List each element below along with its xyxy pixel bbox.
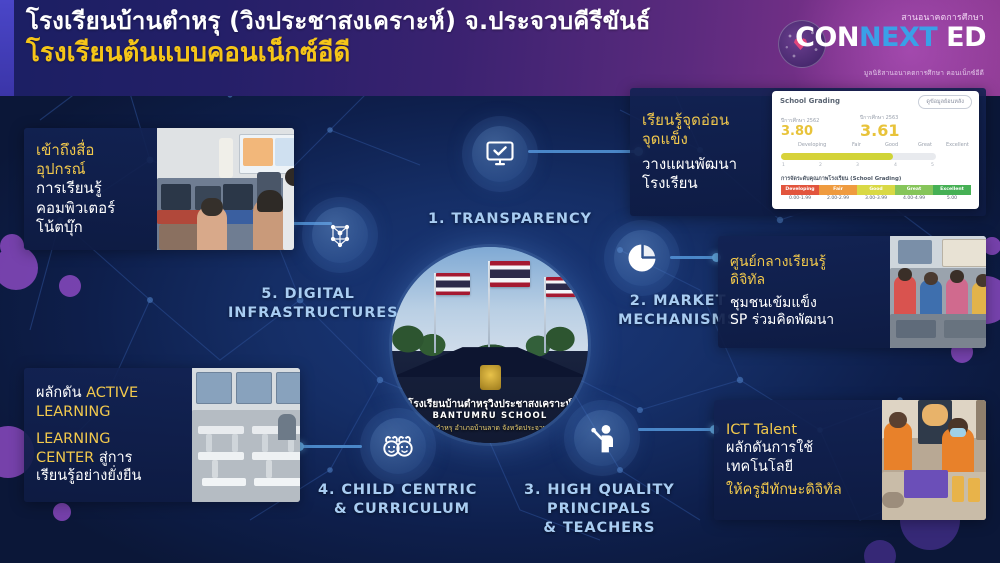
grading-progress-fill: [781, 153, 893, 160]
grading-band-label-0: Developing: [798, 142, 826, 148]
teacher-icon: [587, 423, 617, 453]
pillar-label-child-centric: 4. CHILD CENTRIC & CURRICULUM: [318, 481, 477, 519]
grading-band-label-3: Great: [918, 142, 932, 148]
pillar-label-transparency-line1: 1. TRANSPARENCY: [428, 210, 592, 229]
pillar-label-digital-infra: 5. DIGITAL INFRASTRUCTURES: [228, 285, 388, 323]
grading-range-1: 2.00-2.99: [819, 196, 857, 201]
network-nodes-icon: [325, 220, 355, 250]
logo-word-con: CON: [795, 22, 859, 53]
sg-line-1: เรียนรู้จุดอ่อน: [642, 111, 782, 130]
header-band: โรงเรียนบ้านตำหรุ (วิงประชาสงเคราะห์) จ.…: [0, 0, 1000, 96]
school-emblem: โรงเรียนบ้านตำหรุวิงประชาสงเคราะห์ BANTU…: [392, 247, 588, 443]
al-line-5: เรียนรู้อย่างยั่งยืน: [36, 467, 180, 486]
dlc-line-4: SP ร่วมคิดพัฒนา: [730, 312, 878, 330]
logo-wordmark: CONNEXT ED: [795, 22, 986, 53]
grading-band-cell-0: Developing: [781, 185, 819, 195]
grading-range-2: 3.00-3.99: [857, 196, 895, 201]
grading-curr-score: 3.61: [860, 121, 899, 140]
ict-line-3: เทคโนโลยี: [726, 458, 870, 477]
da-line-3: การเรียนรู้: [36, 179, 145, 198]
grading-tick-1: 2: [819, 163, 822, 168]
card-school-grading-text: เรียนรู้จุดอ่อน จุดแข็ง วางแผนพัฒนา โรงเ…: [630, 88, 794, 216]
emblem-title-thai: โรงเรียนบ้านตำหรุวิงประชาสงเคราะห์: [392, 397, 588, 412]
ict-training-photo: [882, 400, 986, 520]
grading-table-title: การจัดระดับคุณภาพโรงเรียน (School Gradin…: [781, 175, 901, 183]
card-ict-talent: ICT Talent ผลักดันการใช้ เทคโนโลยี ให้คร…: [714, 400, 986, 520]
grading-range-4: 5.00: [933, 196, 971, 201]
grading-panel-title: School Grading: [780, 97, 840, 105]
ict-line-2: ผลักดันการใช้: [726, 439, 870, 458]
logo-subline: มูลนิธิสานอนาคตการศึกษา คอนเน็กซ์อีดี: [864, 68, 984, 78]
pillar-label-cc-line1: 4. CHILD CENTRIC: [318, 481, 477, 500]
grading-prev-score: 3.80: [781, 124, 813, 139]
emblem-subtitle: ต.ตำหรุ อำเภอบ้านลาด จังหวัดประจวบฯ: [392, 423, 588, 434]
grading-band-label-1: Fair: [852, 142, 861, 148]
pillar-label-hq-line3: & TEACHERS: [524, 519, 675, 538]
card-digital-access: เข้าถึงสื่อ อุปกรณ์ การเรียนรู้ คอมพิวเต…: [24, 128, 294, 250]
al-line-4-prefix: CENTER: [36, 450, 99, 466]
thai-flag-left: [436, 273, 470, 295]
connector-line-child-centric: [300, 445, 362, 448]
pillar-label-hq-line1: 3. HIGH QUALITY: [524, 481, 675, 500]
grading-band-label-2: Good: [885, 142, 898, 148]
da-line-5: โน้ตบุ๊ก: [36, 218, 145, 237]
grading-range-3: 4.00-4.99: [895, 196, 933, 201]
thai-flag-right: [546, 277, 576, 297]
community-meeting-photo: [890, 236, 987, 348]
da-line-2: อุปกรณ์: [36, 160, 145, 179]
grading-band-cell-1: Fair: [819, 185, 857, 195]
pillar-icon-digital-infrastructures[interactable]: [312, 207, 368, 263]
grading-tick-0: 1: [782, 163, 785, 168]
grading-band-cell-3: Great: [895, 185, 933, 195]
card-digital-learning-center: ศูนย์กลางเรียนรู้ ดิจิทัล ชุมชนเข้มแข็ง …: [718, 236, 986, 348]
pillar-number-1: 1.: [428, 211, 445, 227]
card-school-grading: เรียนรู้จุดอ่อน จุดแข็ง วางแผนพัฒนา โรงเ…: [630, 88, 986, 216]
pie-chart-icon: [627, 243, 657, 273]
ict-line-4: ให้ครูมีทักษะดิจิทัล: [726, 481, 870, 500]
da-line-1: เข้าถึงสื่อ: [36, 141, 145, 160]
connector-line-ict: [638, 428, 714, 431]
al-line-4-suffix: สู่การ: [99, 450, 133, 466]
pillar-label-high-quality: 3. HIGH QUALITY PRINCIPALS & TEACHERS: [524, 481, 675, 538]
infographic-canvas: โรงเรียนบ้านตำหรุ (วิงประชาสงเคราะห์) จ.…: [0, 0, 1000, 563]
al-line-4: CENTER สู่การ: [36, 449, 180, 468]
page-title-line2: โรงเรียนต้นแบบคอนเน็กซ์อีดี: [26, 38, 651, 69]
dlc-line-3: ชุมชนเข้มแข็ง: [730, 295, 878, 313]
sg-line-4: โรงเรียน: [642, 174, 782, 193]
connector-line-transparency: [528, 150, 640, 153]
grading-progress-track: [781, 153, 936, 160]
grading-history-button[interactable]: ดูข้อมูลย้อนหลัง: [918, 95, 972, 109]
card-dlc-text: ศูนย์กลางเรียนรู้ ดิจิทัล ชุมชนเข้มแข็ง …: [718, 236, 890, 348]
pillar-label-di-line1: 5. DIGITAL: [228, 285, 388, 304]
al-line-1-prefix: ผลักดัน: [36, 385, 86, 401]
al-line-1: ผลักดัน ACTIVE: [36, 384, 180, 403]
pillar-icon-transparency[interactable]: [472, 126, 528, 182]
monitor-check-icon: [485, 140, 515, 168]
grading-band-cell-2: Good: [857, 185, 895, 195]
title-block: โรงเรียนบ้านตำหรุ (วิงประชาสงเคราะห์) จ.…: [26, 6, 651, 69]
al-line-3: LEARNING: [36, 430, 180, 449]
pillar-label-cc-line2: & CURRICULUM: [318, 500, 477, 519]
thai-flag-center: [490, 261, 530, 287]
grading-tick-4: 5: [931, 163, 934, 168]
emblem-title-english: BANTUMRU SCHOOL: [392, 411, 588, 421]
grading-band-cell-4: Excellent: [933, 185, 971, 195]
logo-word-next: NEXT: [859, 22, 937, 53]
grading-range-0: 0.00-1.99: [781, 196, 819, 201]
page-title-line1: โรงเรียนบ้านตำหรุ (วิงประชาสงเคราะห์) จ.…: [26, 6, 651, 36]
grading-tick-3: 4: [894, 163, 897, 168]
pillar-label-hq-line2: PRINCIPALS: [524, 500, 675, 519]
school-grading-dashboard: School Grading ดูข้อมูลย้อนหลัง ปีการศึก…: [772, 91, 979, 209]
sg-line-3: วางแผนพัฒนา: [642, 155, 782, 174]
dlc-line-2: ดิจิทัล: [730, 272, 878, 290]
pillar-icon-market-mechanisms[interactable]: [614, 230, 670, 286]
al-line-1-suffix: ACTIVE: [86, 385, 138, 401]
logo-word-ed: ED: [937, 22, 986, 53]
al-line-2: LEARNING: [36, 403, 180, 422]
grading-band-label-4: Excellent: [946, 142, 969, 148]
connext-ed-logo: สานอนาคตการศึกษา CONNEXT ED มูลนิธิสานอน…: [776, 14, 986, 76]
computer-lab-photo: [157, 128, 294, 250]
classroom-photo: [192, 368, 300, 502]
card-al-text: ผลักดัน ACTIVE LEARNING LEARNING CENTER …: [24, 368, 192, 502]
card-digital-access-text: เข้าถึงสื่อ อุปกรณ์ การเรียนรู้ คอมพิวเต…: [24, 128, 157, 250]
pillar-label-1: TRANSPARENCY: [451, 211, 592, 227]
grading-tick-2: 3: [856, 163, 859, 168]
sg-line-2: จุดแข็ง: [642, 130, 782, 149]
card-ict-text: ICT Talent ผลักดันการใช้ เทคโนโลยี ให้คร…: [714, 400, 882, 520]
connector-line-market: [670, 256, 718, 259]
pillar-label-di-line2: INFRASTRUCTURES: [228, 304, 388, 323]
dlc-line-1: ศูนย์กลางเรียนรู้: [730, 254, 878, 272]
ict-line-1: ICT Talent: [726, 421, 870, 440]
emblem-crest-icon: [480, 365, 501, 390]
pillar-label-transparency: 1. TRANSPARENCY: [428, 210, 592, 229]
card-active-learning: ผลักดัน ACTIVE LEARNING LEARNING CENTER …: [24, 368, 300, 502]
da-line-4: คอมพิวเตอร์: [36, 199, 145, 218]
